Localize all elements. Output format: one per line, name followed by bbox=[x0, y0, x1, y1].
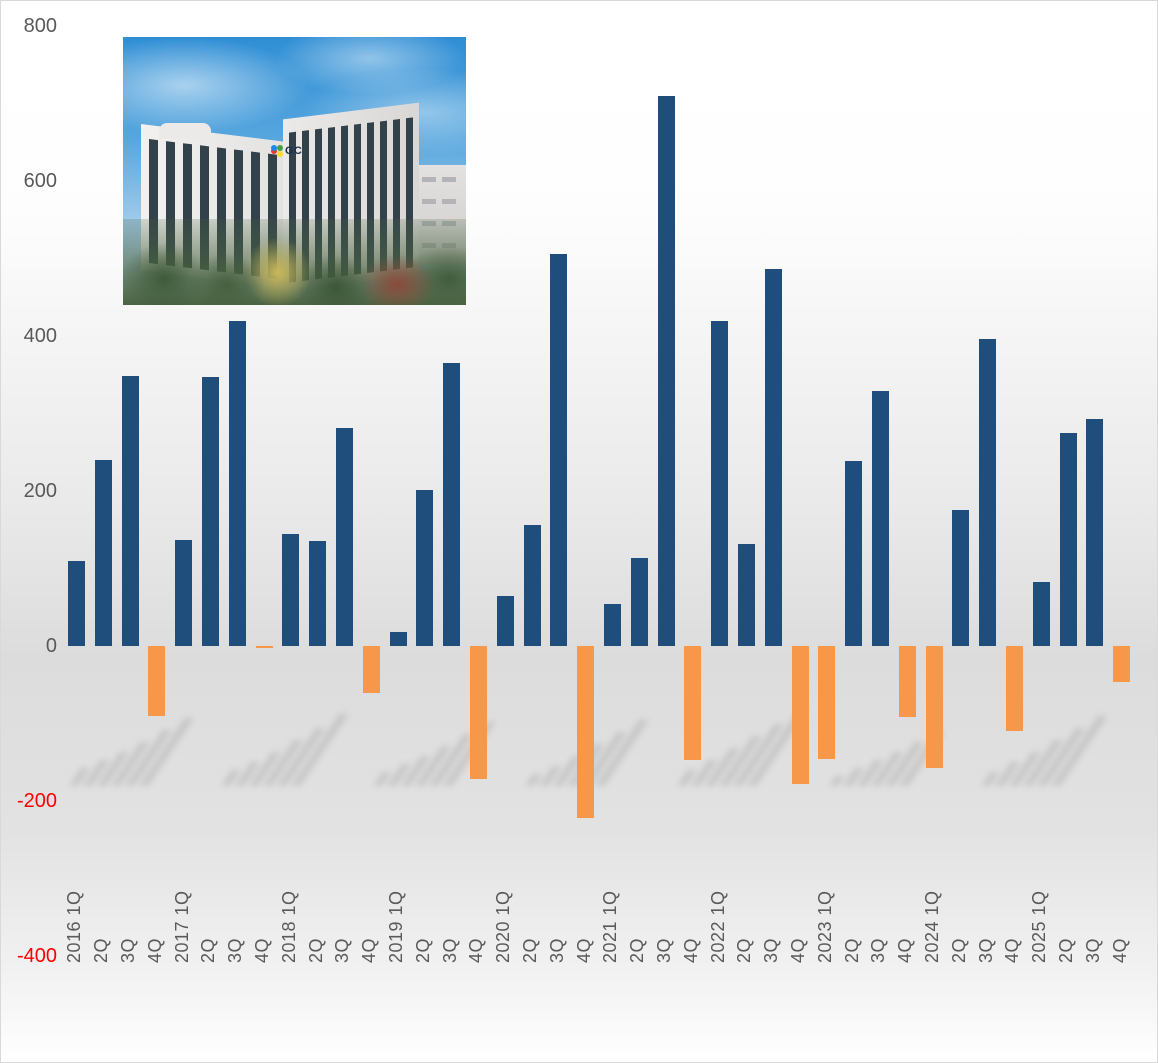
bar-4q[interactable] bbox=[1113, 646, 1130, 682]
x-tick-label: 2018 1Q bbox=[279, 890, 300, 963]
x-tick-label: 4Q bbox=[788, 938, 809, 963]
x-tick-label: 2Q bbox=[949, 938, 970, 963]
x-tick-label: 2Q bbox=[842, 938, 863, 963]
bar-2q[interactable] bbox=[202, 377, 219, 646]
bar-2q[interactable] bbox=[738, 544, 755, 646]
x-tick-label: 3Q bbox=[547, 938, 568, 963]
x-tick-2q: 2Q bbox=[519, 959, 546, 1059]
x-tick-3q: 3Q bbox=[438, 959, 465, 1059]
gc-logo-petals-icon bbox=[271, 145, 283, 157]
x-tick-4q: 4Q bbox=[143, 959, 170, 1059]
y-tick-label-neg400: -400 bbox=[9, 946, 57, 966]
x-tick-3q: 3Q bbox=[331, 959, 358, 1059]
x-tick-label: 3Q bbox=[976, 938, 997, 963]
background-building-window bbox=[422, 199, 436, 204]
x-tick-label: 2021 1Q bbox=[600, 890, 621, 963]
x-tick-4q: 4Q bbox=[572, 959, 599, 1059]
bar-2023-1q[interactable] bbox=[818, 646, 835, 759]
x-tick-2020-1q: 2020 1Q bbox=[492, 959, 519, 1059]
x-tick-label: 2Q bbox=[91, 938, 112, 963]
x-tick-label: 2Q bbox=[1056, 938, 1077, 963]
x-tick-label: 2017 1Q bbox=[172, 890, 193, 963]
x-tick-2017-1q: 2017 1Q bbox=[170, 959, 197, 1059]
bar-4q[interactable] bbox=[256, 646, 273, 648]
bar-2020-1q[interactable] bbox=[497, 596, 514, 646]
x-tick-label: 3Q bbox=[654, 938, 675, 963]
x-tick-2q: 2Q bbox=[1055, 959, 1082, 1059]
x-tick-label: 2016 1Q bbox=[64, 890, 85, 963]
bar-2024-1q[interactable] bbox=[926, 646, 943, 768]
bar-2q[interactable] bbox=[952, 510, 969, 646]
x-tick-4q: 4Q bbox=[465, 959, 492, 1059]
y-tick-label-neg200: -200 bbox=[9, 791, 57, 811]
bar-3q[interactable] bbox=[979, 339, 996, 646]
x-tick-2019-1q: 2019 1Q bbox=[385, 959, 412, 1059]
y-tick-label-800: 800 bbox=[9, 16, 57, 36]
x-tick-3q: 3Q bbox=[760, 959, 787, 1059]
x-tick-3q: 3Q bbox=[545, 959, 572, 1059]
bar-4q[interactable] bbox=[470, 646, 487, 779]
bar-3q[interactable] bbox=[550, 254, 567, 646]
x-tick-label: 3Q bbox=[332, 938, 353, 963]
x-tick-label: 2Q bbox=[734, 938, 755, 963]
x-tick-label: 2Q bbox=[413, 938, 434, 963]
x-tick-3q: 3Q bbox=[867, 959, 894, 1059]
x-tick-label: 3Q bbox=[868, 938, 889, 963]
x-tick-label: 2Q bbox=[520, 938, 541, 963]
x-tick-4q: 4Q bbox=[679, 959, 706, 1059]
bar-3q[interactable] bbox=[443, 363, 460, 646]
background-building-window bbox=[442, 177, 456, 182]
x-axis: 2016 1Q2Q3Q4Q2017 1Q2Q3Q4Q2018 1Q2Q3Q4Q2… bbox=[63, 959, 1135, 1059]
x-tick-2023-1q: 2023 1Q bbox=[813, 959, 840, 1059]
x-tick-4q: 4Q bbox=[1108, 959, 1135, 1059]
x-tick-2022-1q: 2022 1Q bbox=[706, 959, 733, 1059]
x-tick-label: 2Q bbox=[306, 938, 327, 963]
x-tick-2q: 2Q bbox=[90, 959, 117, 1059]
x-tick-label: 4Q bbox=[252, 938, 273, 963]
x-tick-3q: 3Q bbox=[974, 959, 1001, 1059]
bar-2019-1q[interactable] bbox=[390, 632, 407, 646]
x-tick-label: 4Q bbox=[681, 938, 702, 963]
x-tick-4q: 4Q bbox=[894, 959, 921, 1059]
x-tick-label: 4Q bbox=[145, 938, 166, 963]
x-tick-2q: 2Q bbox=[197, 959, 224, 1059]
bar-2q[interactable] bbox=[1060, 433, 1077, 646]
y-tick-label-0: 0 bbox=[9, 636, 57, 656]
x-tick-label: 2Q bbox=[627, 938, 648, 963]
bar-2q[interactable] bbox=[416, 490, 433, 646]
y-tick-label-600: 600 bbox=[9, 171, 57, 191]
bar-3q[interactable] bbox=[765, 269, 782, 646]
foliage-foreground bbox=[123, 219, 466, 305]
bar-2025-1q[interactable] bbox=[1033, 582, 1050, 646]
x-tick-2q: 2Q bbox=[947, 959, 974, 1059]
bar-4q[interactable] bbox=[577, 646, 594, 818]
y-tick-label-200: 200 bbox=[9, 481, 57, 501]
bar-2q[interactable] bbox=[95, 460, 112, 646]
bar-4q[interactable] bbox=[363, 646, 380, 693]
x-tick-3q: 3Q bbox=[224, 959, 251, 1059]
x-tick-2q: 2Q bbox=[840, 959, 867, 1059]
x-tick-label: 4Q bbox=[466, 938, 487, 963]
bar-3q[interactable] bbox=[872, 391, 889, 646]
y-tick-label-400: 400 bbox=[9, 326, 57, 346]
x-tick-label: 2024 1Q bbox=[922, 890, 943, 963]
bar-3q[interactable] bbox=[658, 96, 675, 646]
bar-4q[interactable] bbox=[1006, 646, 1023, 731]
bar-4q[interactable] bbox=[684, 646, 701, 760]
bar-2q[interactable] bbox=[631, 558, 648, 646]
x-tick-2024-1q: 2024 1Q bbox=[921, 959, 948, 1059]
gc-logo-text: GC bbox=[285, 145, 302, 157]
x-tick-label: 2023 1Q bbox=[815, 890, 836, 963]
x-tick-4q: 4Q bbox=[251, 959, 278, 1059]
x-tick-2q: 2Q bbox=[411, 959, 438, 1059]
bar-2022-1q[interactable] bbox=[711, 321, 728, 646]
x-tick-2018-1q: 2018 1Q bbox=[277, 959, 304, 1059]
bar-3q[interactable] bbox=[336, 428, 353, 646]
x-tick-2q: 2Q bbox=[733, 959, 760, 1059]
bar-3q[interactable] bbox=[1086, 419, 1103, 646]
background-building-window bbox=[442, 199, 456, 204]
bar-2q[interactable] bbox=[524, 525, 541, 646]
x-tick-label: 4Q bbox=[359, 938, 380, 963]
gc-logo: GC bbox=[271, 145, 302, 157]
x-tick-label: 3Q bbox=[225, 938, 246, 963]
bar-2017-1q[interactable] bbox=[175, 540, 192, 646]
bar-2018-1q[interactable] bbox=[282, 534, 299, 646]
x-tick-label: 2022 1Q bbox=[708, 890, 729, 963]
x-tick-2025-1q: 2025 1Q bbox=[1028, 959, 1055, 1059]
x-tick-label: 3Q bbox=[440, 938, 461, 963]
bar-2q[interactable] bbox=[309, 541, 326, 646]
x-tick-label: 2Q bbox=[198, 938, 219, 963]
x-tick-label: 2025 1Q bbox=[1029, 890, 1050, 963]
x-tick-2q: 2Q bbox=[626, 959, 653, 1059]
x-tick-4q: 4Q bbox=[358, 959, 385, 1059]
background-building-window bbox=[422, 177, 436, 182]
x-tick-label: 2020 1Q bbox=[493, 890, 514, 963]
bar-2q[interactable] bbox=[845, 461, 862, 646]
x-tick-label: 3Q bbox=[118, 938, 139, 963]
x-tick-label: 3Q bbox=[1083, 938, 1104, 963]
x-tick-2021-1q: 2021 1Q bbox=[599, 959, 626, 1059]
x-tick-label: 4Q bbox=[1002, 938, 1023, 963]
x-tick-label: 4Q bbox=[895, 938, 916, 963]
x-tick-4q: 4Q bbox=[787, 959, 814, 1059]
building-photo: GC bbox=[123, 37, 466, 305]
bar-3q[interactable] bbox=[229, 321, 246, 647]
x-tick-3q: 3Q bbox=[1081, 959, 1108, 1059]
x-tick-label: 3Q bbox=[761, 938, 782, 963]
rooftop-structure bbox=[159, 123, 211, 139]
x-tick-label: 4Q bbox=[1110, 938, 1131, 963]
chart-frame: 8006004002000-200-400 2016 1Q2Q3Q4Q2017 … bbox=[0, 0, 1158, 1063]
x-tick-2q: 2Q bbox=[304, 959, 331, 1059]
x-tick-label: 4Q bbox=[574, 938, 595, 963]
bar-4q[interactable] bbox=[792, 646, 809, 784]
bar-4q[interactable] bbox=[148, 646, 165, 716]
x-tick-label: 2019 1Q bbox=[386, 890, 407, 963]
x-tick-2016-1q: 2016 1Q bbox=[63, 959, 90, 1059]
bar-4q[interactable] bbox=[899, 646, 916, 717]
bar-2016-1q[interactable] bbox=[68, 561, 85, 646]
x-tick-3q: 3Q bbox=[653, 959, 680, 1059]
x-tick-4q: 4Q bbox=[1001, 959, 1028, 1059]
x-tick-3q: 3Q bbox=[117, 959, 144, 1059]
bar-3q[interactable] bbox=[122, 376, 139, 646]
bar-2021-1q[interactable] bbox=[604, 604, 621, 646]
